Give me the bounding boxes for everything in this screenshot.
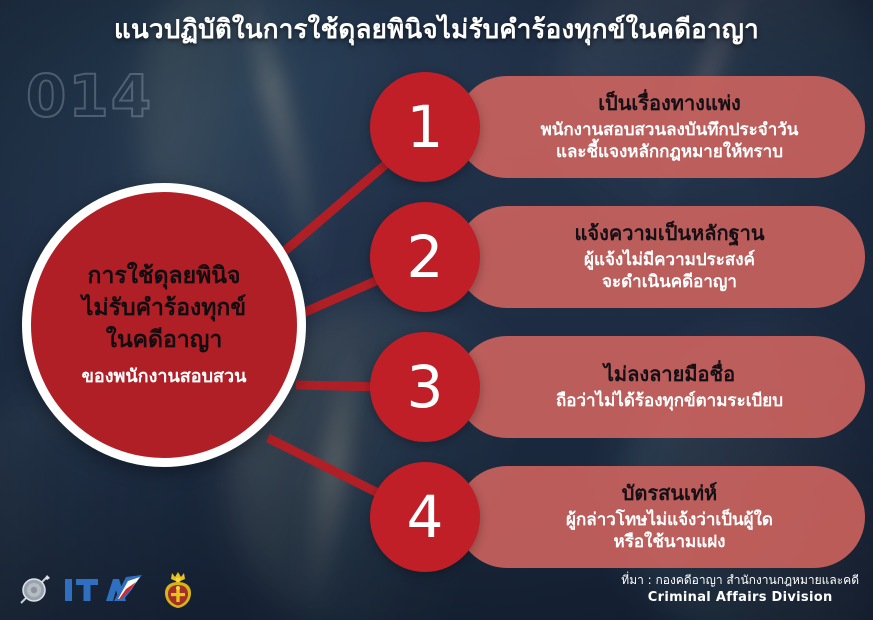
item-heading: แจ้งความเป็นหลักฐาน xyxy=(574,221,764,246)
list-item: 1 เป็นเรื่องทางแพ่ง พนักงานสอบสวนลงบันทึ… xyxy=(370,72,865,182)
hub-line-3: ในคดีอาญา xyxy=(82,325,246,357)
royal-thai-police-crest-logo xyxy=(160,570,196,610)
police-emblem-logo xyxy=(14,570,54,610)
hub-line-2: ไม่รับคำร้องทุกข์ xyxy=(82,293,246,325)
ita-logo xyxy=(64,573,150,607)
item-body-line: จะดำเนินคดีอาญา xyxy=(602,271,737,293)
hub-sub-text: ของพนักงานสอบสวน xyxy=(82,365,247,388)
item-text-block: แจ้งความเป็นหลักฐาน ผู้แจ้งไม่มีความประส… xyxy=(490,202,849,312)
source-credit: ที่มา : กองคดีอาญา สำนักงานกฎหมายและคดี … xyxy=(621,572,859,608)
item-text-block: เป็นเรื่องทางแพ่ง พนักงานสอบสวนลงบันทึกป… xyxy=(490,72,849,182)
source-thai: ที่มา : กองคดีอาญา สำนักงานกฎหมายและคดี xyxy=(621,572,859,589)
item-heading: ไม่ลงลายมือชื่อ xyxy=(604,362,735,387)
item-heading: เป็นเรื่องทางแพ่ง xyxy=(598,91,741,116)
item-number-badge: 2 xyxy=(370,202,480,312)
item-body-line: และชี้แจงหลักกฎหมายให้ทราบ xyxy=(556,141,783,163)
list-item: 3 ไม่ลงลายมือชื่อ ถือว่าไม่ได้ร้องทุกข์ต… xyxy=(370,332,865,442)
item-text-block: ไม่ลงลายมือชื่อ ถือว่าไม่ได้ร้องทุกข์ตาม… xyxy=(490,332,849,442)
item-number-badge: 1 xyxy=(370,72,480,182)
infographic-root: แนวปฏิบัติในการใช้ดุลยพินิจไม่รับคำร้องท… xyxy=(0,0,873,620)
hub-circle: การใช้ดุลยพินิจ ไม่รับคำร้องทุกข์ ในคดีอ… xyxy=(22,183,306,467)
item-heading: บัตรสนเท่ห์ xyxy=(622,481,718,506)
hub-line-1: การใช้ดุลยพินิจ xyxy=(82,261,246,293)
list-item: 2 แจ้งความเป็นหลักฐาน ผู้แจ้งไม่มีความปร… xyxy=(370,202,865,312)
item-text-block: บัตรสนเท่ห์ ผู้กล่าวโทษไม่แจ้งว่าเป็นผู้… xyxy=(490,462,849,572)
item-body-line: ผู้แจ้งไม่มีความประสงค์ xyxy=(584,249,755,271)
item-number-badge: 3 xyxy=(370,332,480,442)
item-body-line: หรือใช้นามแฝง xyxy=(614,531,726,553)
item-body-line: ผู้กล่าวโทษไม่แจ้งว่าเป็นผู้ใด xyxy=(566,509,773,531)
item-number-badge: 4 xyxy=(370,462,480,572)
hub-main-text: การใช้ดุลยพินิจ ไม่รับคำร้องทุกข์ ในคดีอ… xyxy=(60,261,268,356)
footer-logos xyxy=(14,570,196,610)
item-body-line: พนักงานสอบสวนลงบันทึกประจำวัน xyxy=(541,119,799,141)
item-body-line: ถือว่าไม่ได้ร้องทุกข์ตามระเบียบ xyxy=(556,390,783,412)
source-english: Criminal Affairs Division xyxy=(621,589,859,608)
list-item: 4 บัตรสนเท่ห์ ผู้กล่าวโทษไม่แจ้งว่าเป็นผ… xyxy=(370,462,865,572)
